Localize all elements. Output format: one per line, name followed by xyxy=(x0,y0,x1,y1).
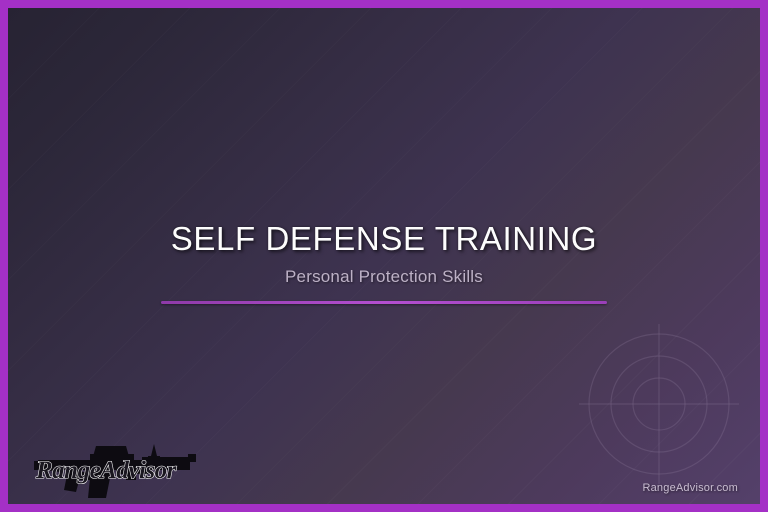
brand-logo-wordmark: RangeAdvisor xyxy=(35,457,177,484)
page-title: SELF DEFENSE TRAINING xyxy=(8,220,760,258)
page-subtitle: Personal Protection Skills xyxy=(8,267,760,287)
crosshair-target-reticle-icon xyxy=(579,324,739,484)
brand-logo[interactable]: RangeAdvisor xyxy=(30,436,202,500)
title-block: SELF DEFENSE TRAINING Personal Protectio… xyxy=(8,220,760,304)
slide-canvas: SELF DEFENSE TRAINING Personal Protectio… xyxy=(8,8,760,504)
footer-url[interactable]: RangeAdvisor.com xyxy=(642,482,738,494)
title-divider xyxy=(161,301,607,304)
slide-frame: SELF DEFENSE TRAINING Personal Protectio… xyxy=(0,0,768,512)
